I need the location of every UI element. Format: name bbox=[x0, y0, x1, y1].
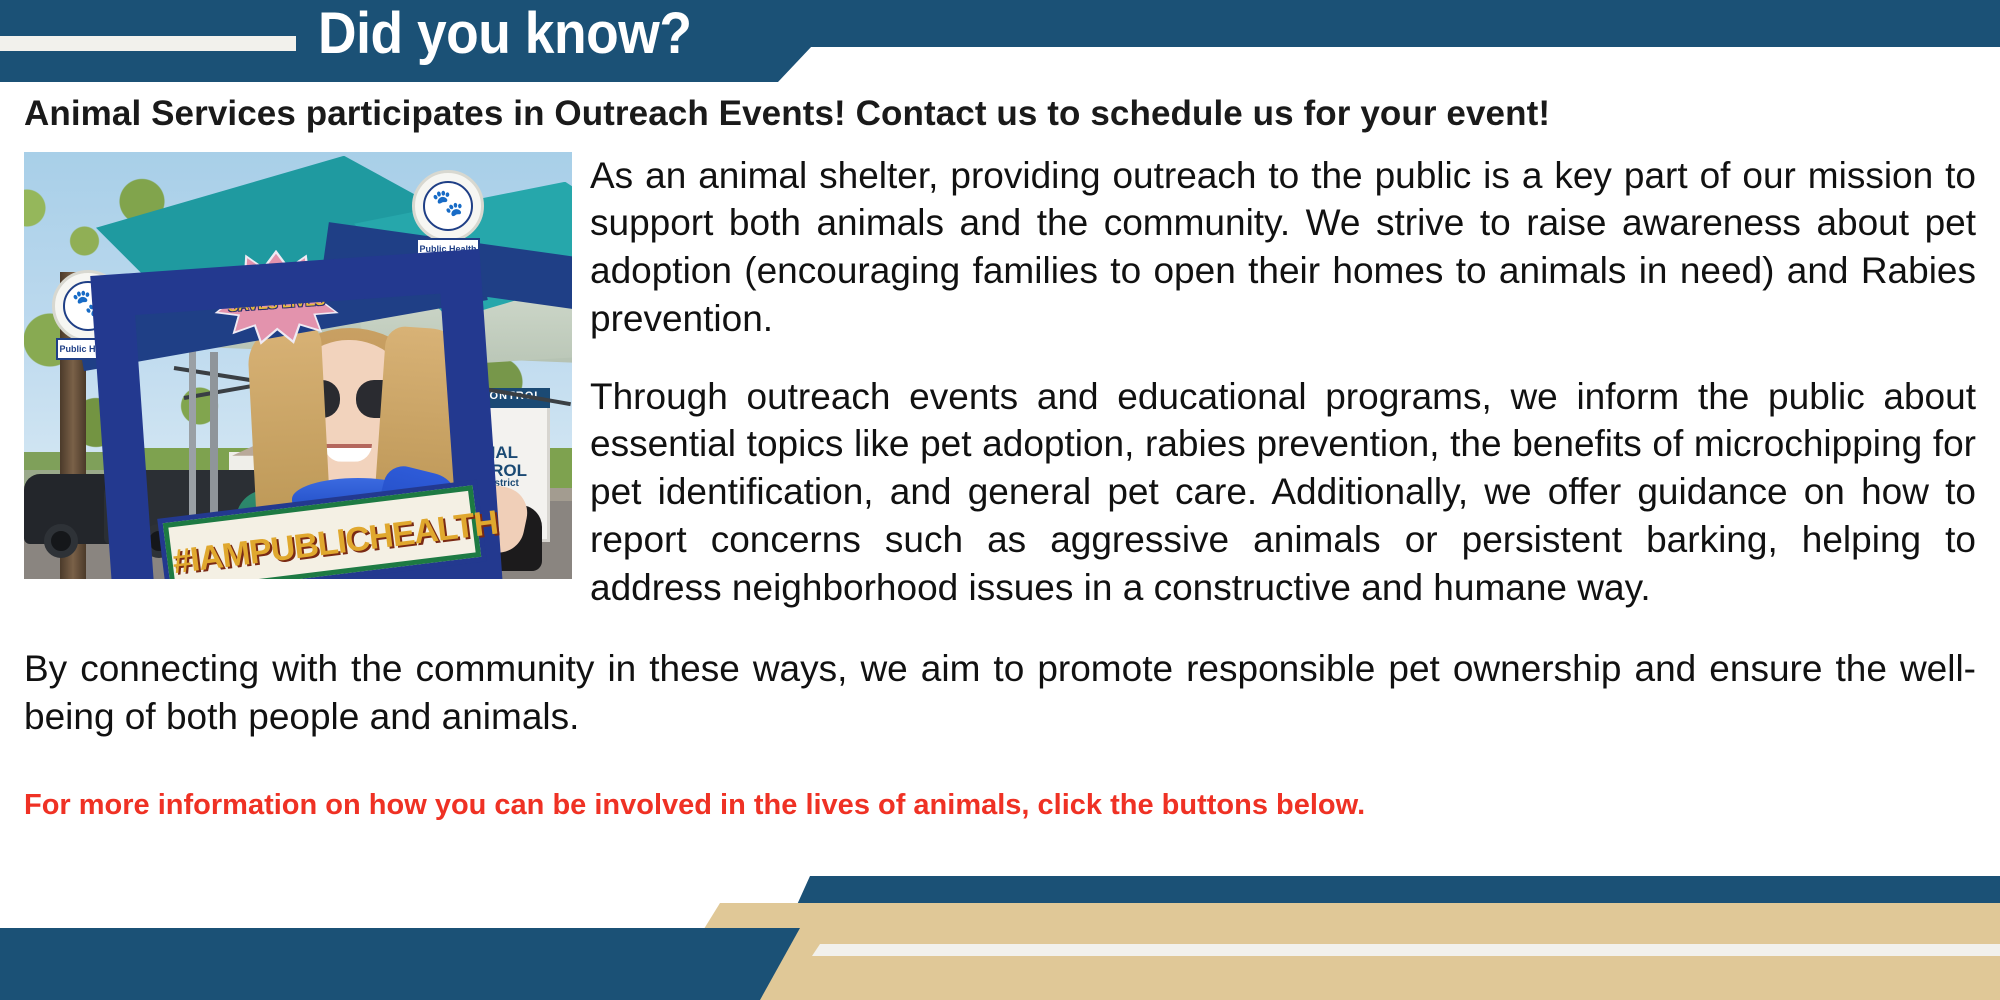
paw-print-icon: 🐾 bbox=[432, 188, 464, 219]
footer-blue-bottom-shape bbox=[0, 928, 830, 1000]
paragraph-3: By connecting with the community in thes… bbox=[24, 645, 1976, 740]
outreach-event-photo: ANIMAL CONTROL ANIMAL CONTROL Health Dis… bbox=[24, 152, 572, 579]
public-health-seal-right: 🐾 bbox=[412, 170, 484, 242]
header-rule-decoration bbox=[0, 36, 296, 51]
header-banner: Did you know? bbox=[0, 0, 2000, 92]
car-wheel bbox=[44, 524, 78, 558]
lead-heading: Animal Services participates in Outreach… bbox=[0, 92, 2000, 136]
did-you-know-infographic: Did you know? Animal Services participat… bbox=[0, 0, 2000, 1000]
article: ANIMAL CONTROL ANIMAL CONTROL Health Dis… bbox=[0, 152, 2000, 741]
content-area: Animal Services participates in Outreach… bbox=[0, 92, 2000, 822]
call-to-action-text: For more information on how you can be i… bbox=[0, 789, 2000, 822]
header-blue-band bbox=[0, 0, 2000, 47]
footer-decoration bbox=[0, 870, 2000, 1000]
page-title: Did you know? bbox=[318, 0, 691, 77]
